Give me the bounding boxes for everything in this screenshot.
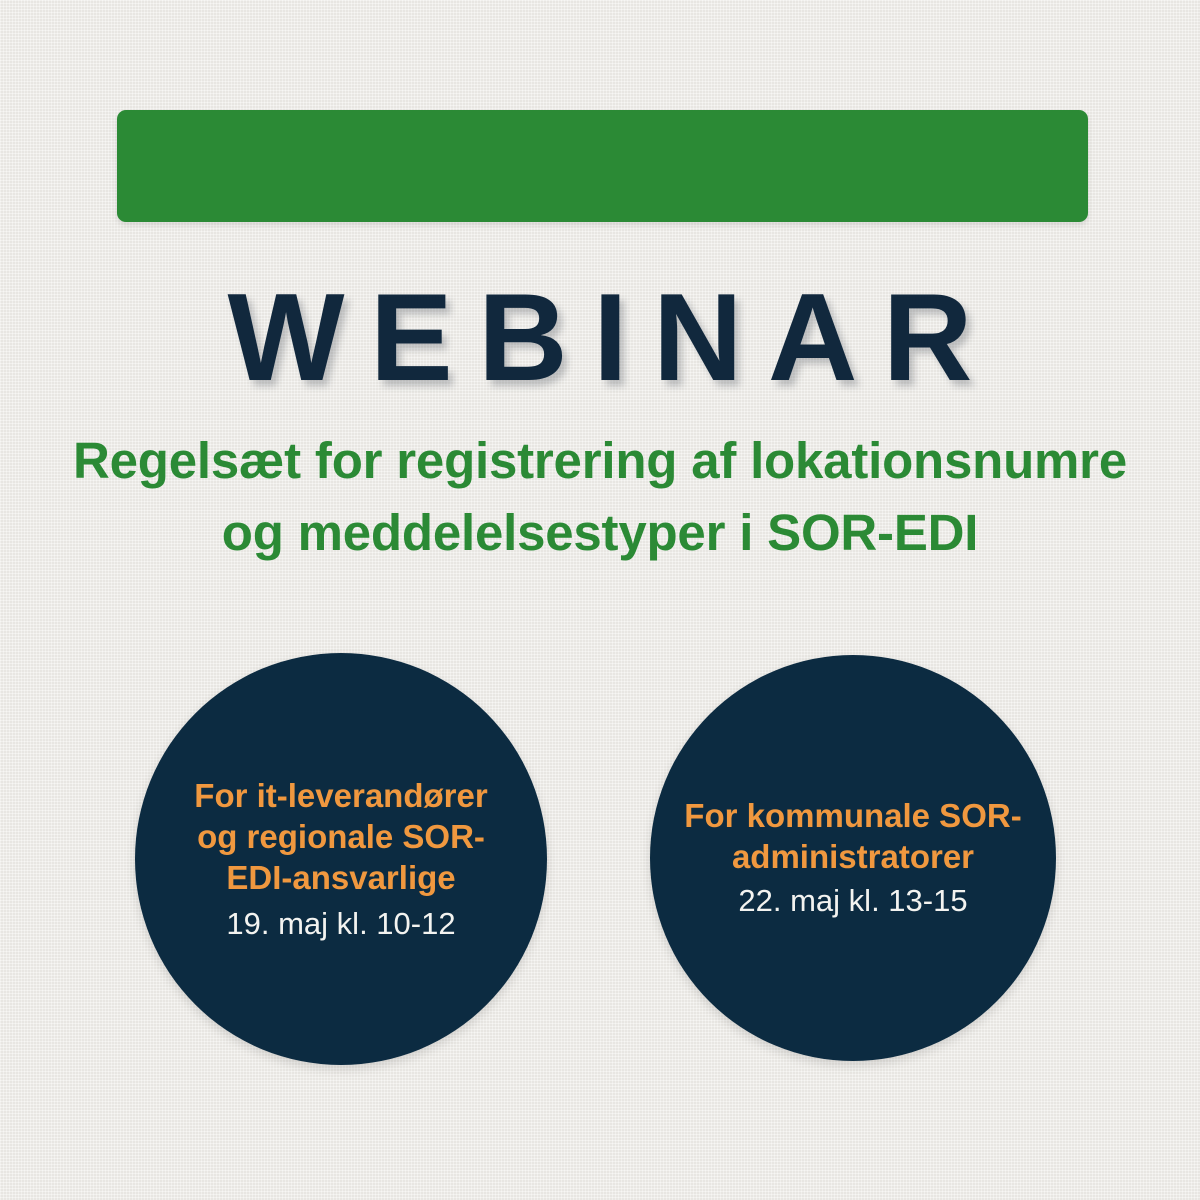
subtitle-line-1: Regelsæt for registrering af lokationsnu… [0,425,1200,497]
session-datetime-label: 22. maj kl. 13-15 [738,881,967,921]
page-title: WEBINAR [0,276,1200,400]
subtitle-line-2: og meddelelsestyper i SOR-EDI [0,497,1200,569]
session-datetime-label: 19. maj kl. 10-12 [226,904,455,944]
subtitle: Regelsæt for registrering af lokationsnu… [0,425,1200,569]
session-audience-label: For kommunale SOR-administratorer [675,795,1031,877]
green-banner-bar [117,110,1088,222]
session-circle-kommunale-administratorer: For kommunale SOR-administratorer 22. ma… [650,655,1056,1061]
webinar-poster: WEBINAR Regelsæt for registrering af lok… [0,0,1200,1200]
session-audience-label: For it-leverandører og regionale SOR-EDI… [171,775,511,898]
session-circle-it-leverandoerer: For it-leverandører og regionale SOR-EDI… [135,653,547,1065]
